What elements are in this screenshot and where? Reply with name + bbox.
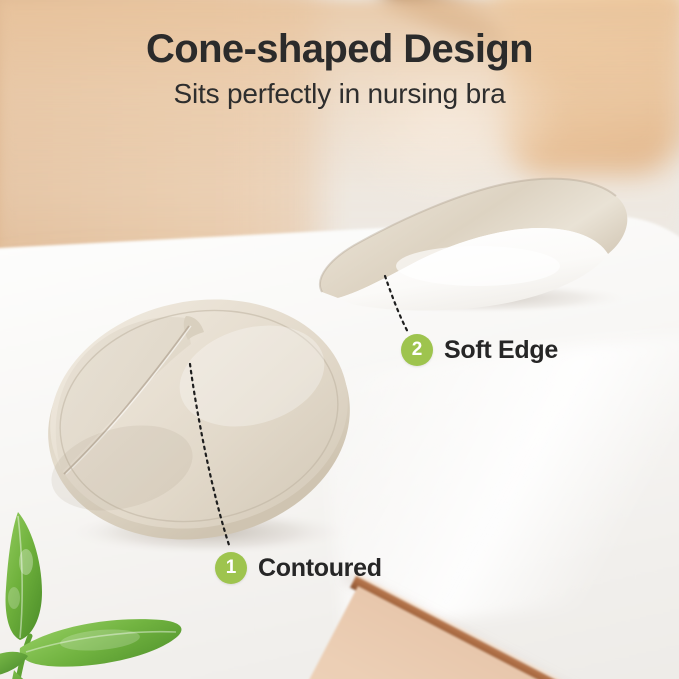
- callout-label-1: Contoured: [258, 554, 382, 583]
- page-subtitle: Sits perfectly in nursing bra: [0, 78, 679, 110]
- callout-label-2: Soft Edge: [444, 336, 558, 365]
- callout-soft-edge: 2 Soft Edge: [401, 334, 558, 366]
- leaf-lower-blade: [10, 670, 56, 679]
- page-title: Cone-shaped Design: [0, 28, 679, 70]
- leaf-upright-highlight: [19, 549, 33, 575]
- product-feature-graphic: Cone-shaped Design Sits perfectly in nur…: [0, 0, 679, 679]
- callout-badge-2-number: 2: [412, 340, 423, 359]
- callout-badge-1: 1: [215, 552, 247, 584]
- pad-face-highlight: [396, 246, 560, 286]
- bamboo-leaves: [0, 500, 200, 679]
- leaf-upright: [6, 512, 42, 640]
- callout-badge-2: 2: [401, 334, 433, 366]
- callout-badge-1-number: 1: [226, 558, 237, 577]
- leaf-upright-highlight-2: [8, 587, 20, 609]
- callout-contoured: 1 Contoured: [215, 552, 382, 584]
